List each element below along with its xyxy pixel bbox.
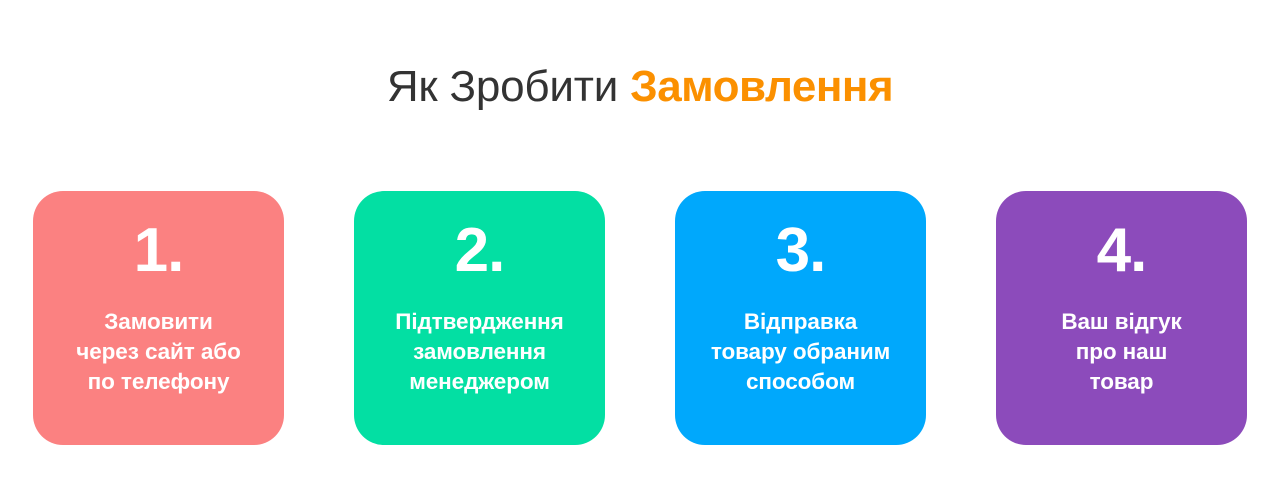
step-text-1: Замовити через сайт або по телефону bbox=[66, 307, 250, 397]
steps-list: 1. Замовити через сайт або по телефону 2… bbox=[33, 191, 1247, 445]
page-title: Як Зробити Замовлення bbox=[0, 62, 1280, 112]
step-card-3[interactable]: 3. Відправка товару обраним способом bbox=[675, 191, 926, 445]
step-number-3: 3. bbox=[776, 219, 826, 283]
step-number-4: 4. bbox=[1097, 219, 1147, 283]
step-number-1: 1. bbox=[134, 219, 184, 283]
step-card-4[interactable]: 4. Ваш відгук про наш товар bbox=[996, 191, 1247, 445]
step-text-2: Підтвердження замовлення менеджером bbox=[385, 307, 573, 397]
page-title-accent: Замовлення bbox=[630, 62, 893, 111]
order-steps-infographic: Як Зробити Замовлення 1. Замовити через … bbox=[0, 0, 1280, 495]
step-text-3: Відправка товару обраним способом bbox=[701, 307, 900, 397]
step-card-2[interactable]: 2. Підтвердження замовлення менеджером bbox=[354, 191, 605, 445]
step-card-1[interactable]: 1. Замовити через сайт або по телефону bbox=[33, 191, 284, 445]
step-text-4: Ваш відгук про наш товар bbox=[1051, 307, 1191, 397]
page-title-lead: Як Зробити bbox=[387, 62, 630, 111]
step-number-2: 2. bbox=[455, 219, 505, 283]
